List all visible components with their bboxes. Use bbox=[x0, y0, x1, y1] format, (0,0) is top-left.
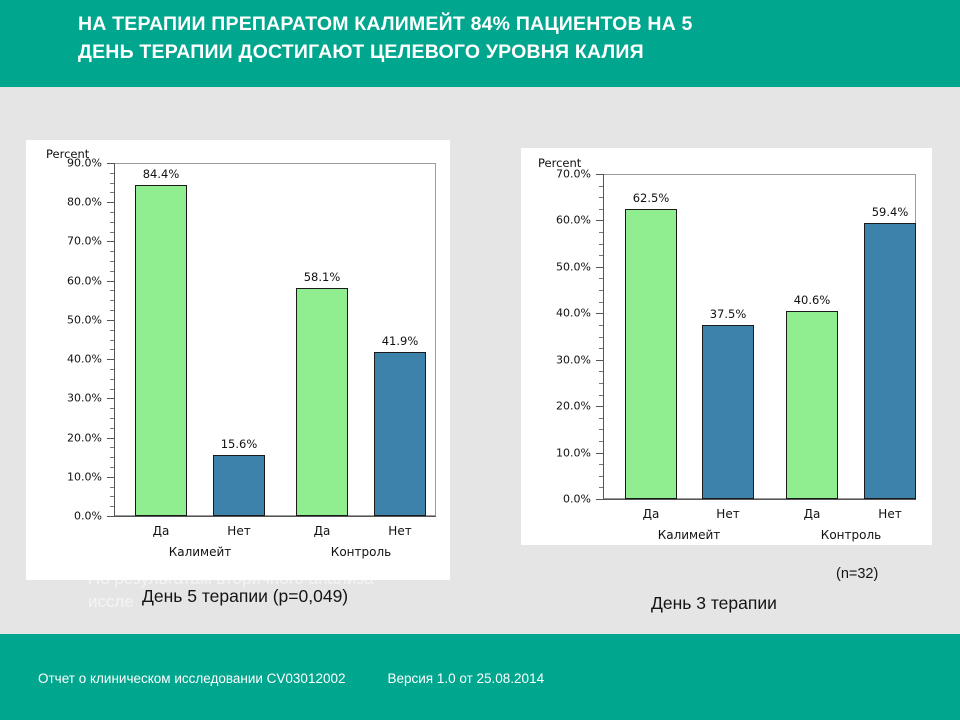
x-axis-group-label: Калимейт bbox=[658, 528, 721, 542]
y-axis-minor-tick bbox=[599, 487, 603, 488]
y-axis-minor-tick bbox=[110, 487, 114, 488]
y-axis-tick-label: 50.0% bbox=[39, 313, 102, 326]
y-axis-tick-label: 30.0% bbox=[39, 392, 102, 405]
x-axis-category-label: Да bbox=[314, 524, 331, 538]
y-axis-minor-tick bbox=[110, 330, 114, 331]
y-axis-minor-tick bbox=[110, 349, 114, 350]
y-axis-major-tick bbox=[107, 359, 114, 360]
bar-1[interactable] bbox=[135, 185, 187, 516]
y-axis-minor-tick bbox=[110, 300, 114, 301]
x-axis-category-label: Нет bbox=[716, 507, 739, 521]
y-axis-minor-tick bbox=[110, 251, 114, 252]
x-axis-category-label: Нет bbox=[227, 524, 250, 538]
x-axis-group-label: Контроль bbox=[331, 545, 391, 559]
y-axis-minor-tick bbox=[110, 183, 114, 184]
x-axis-category-label: Нет bbox=[388, 524, 411, 538]
bar-2[interactable] bbox=[213, 455, 265, 516]
y-axis-minor-tick bbox=[599, 325, 603, 326]
y-axis-major-tick bbox=[596, 499, 603, 500]
y-axis-minor-tick bbox=[110, 457, 114, 458]
y-axis-minor-tick bbox=[599, 348, 603, 349]
bar-value-label: 59.4% bbox=[872, 205, 909, 219]
y-axis-tick-label: 60.0% bbox=[39, 274, 102, 287]
y-axis-tick-label: 30.0% bbox=[528, 353, 591, 366]
y-axis-minor-tick bbox=[599, 255, 603, 256]
x-axis-line bbox=[603, 499, 916, 500]
y-axis-minor-tick bbox=[110, 467, 114, 468]
bar-value-label: 37.5% bbox=[710, 307, 747, 321]
bar-value-label: 58.1% bbox=[304, 270, 341, 284]
y-axis-minor-tick bbox=[599, 383, 603, 384]
y-axis-minor-tick bbox=[110, 418, 114, 419]
y-axis-major-tick bbox=[107, 241, 114, 242]
y-axis-minor-tick bbox=[599, 197, 603, 198]
y-axis-minor-tick bbox=[599, 290, 603, 291]
y-axis-major-tick bbox=[107, 438, 114, 439]
y-axis-major-tick bbox=[107, 398, 114, 399]
y-axis-minor-tick bbox=[599, 186, 603, 187]
y-axis-major-tick bbox=[596, 406, 603, 407]
y-axis-minor-tick bbox=[110, 379, 114, 380]
y-axis-minor-tick bbox=[599, 476, 603, 477]
x-axis-group-label: Контроль bbox=[821, 528, 881, 542]
bar-value-label: 84.4% bbox=[143, 167, 180, 181]
bar-value-label: 40.6% bbox=[794, 293, 831, 307]
y-axis-minor-tick bbox=[599, 232, 603, 233]
y-axis-major-tick bbox=[107, 516, 114, 517]
y-axis-minor-tick bbox=[110, 173, 114, 174]
y-axis-minor-tick bbox=[599, 464, 603, 465]
y-axis-minor-tick bbox=[599, 302, 603, 303]
y-axis-line bbox=[603, 174, 604, 500]
y-axis-tick-label: 0.0% bbox=[39, 510, 102, 523]
y-axis-minor-tick bbox=[599, 278, 603, 279]
y-axis-minor-tick bbox=[599, 244, 603, 245]
y-axis-minor-tick bbox=[110, 447, 114, 448]
y-axis-minor-tick bbox=[599, 371, 603, 372]
y-axis-tick-label: 20.0% bbox=[528, 400, 591, 413]
y-axis-major-tick bbox=[107, 320, 114, 321]
y-axis-minor-tick bbox=[110, 389, 114, 390]
y-axis-tick-label: 80.0% bbox=[39, 196, 102, 209]
bar-3[interactable] bbox=[296, 288, 348, 516]
y-axis-minor-tick bbox=[110, 212, 114, 213]
x-axis-category-label: Да bbox=[643, 507, 660, 521]
bar-4[interactable] bbox=[864, 223, 916, 499]
chart-panel-left: Percent0.0%10.0%20.0%30.0%40.0%50.0%60.0… bbox=[26, 140, 450, 580]
y-axis-tick-label: 20.0% bbox=[39, 431, 102, 444]
x-axis-line bbox=[114, 516, 436, 517]
slide-header: НА ТЕРАПИИ ПРЕПАРАТОМ КАЛИМЕЙТ 84% ПАЦИЕ… bbox=[0, 0, 960, 87]
y-axis-minor-tick bbox=[110, 192, 114, 193]
y-axis-minor-tick bbox=[110, 428, 114, 429]
slide-footer: Отчет о клиническом исследовании CV03012… bbox=[0, 634, 960, 720]
slide-root: НА ТЕРАПИИ ПРЕПАРАТОМ КАЛИМЕЙТ 84% ПАЦИЕ… bbox=[0, 0, 960, 720]
footer-report: Отчет о клиническом исследовании CV03012… bbox=[38, 671, 345, 686]
y-axis-minor-tick bbox=[110, 496, 114, 497]
y-axis-minor-tick bbox=[599, 429, 603, 430]
page-title: НА ТЕРАПИИ ПРЕПАРАТОМ КАЛИМЕЙТ 84% ПАЦИЕ… bbox=[78, 10, 900, 66]
y-axis-tick-label: 40.0% bbox=[528, 307, 591, 320]
y-axis-minor-tick bbox=[110, 232, 114, 233]
y-axis-minor-tick bbox=[599, 395, 603, 396]
y-axis-major-tick bbox=[596, 267, 603, 268]
bar-value-label: 41.9% bbox=[382, 334, 419, 348]
x-axis-category-label: Да bbox=[153, 524, 170, 538]
y-axis-line bbox=[114, 163, 115, 517]
x-axis-category-label: Да bbox=[804, 507, 821, 521]
y-axis-major-tick bbox=[596, 313, 603, 314]
sample-size-note: (n=32) bbox=[836, 566, 878, 582]
y-axis-tick-label: 70.0% bbox=[39, 235, 102, 248]
bar-value-label: 15.6% bbox=[221, 437, 258, 451]
y-axis-major-tick bbox=[107, 281, 114, 282]
y-axis-major-tick bbox=[107, 163, 114, 164]
y-axis-minor-tick bbox=[599, 418, 603, 419]
x-axis-category-label: Нет bbox=[878, 507, 901, 521]
y-axis-minor-tick bbox=[110, 261, 114, 262]
footer-version: Версия 1.0 от 25.08.2014 bbox=[387, 671, 544, 686]
bar-chart-right: Percent0.0%10.0%20.0%30.0%40.0%50.0%60.0… bbox=[521, 148, 932, 545]
caption-left-chart: День 5 терапии (p=0,049) bbox=[142, 586, 348, 607]
y-axis-minor-tick bbox=[110, 290, 114, 291]
bar-value-label: 62.5% bbox=[633, 191, 670, 205]
bar-3[interactable] bbox=[786, 311, 838, 500]
y-axis-minor-tick bbox=[110, 222, 114, 223]
bar-2[interactable] bbox=[702, 325, 754, 499]
x-axis-group-label: Калимейт bbox=[169, 545, 232, 559]
y-axis-minor-tick bbox=[110, 408, 114, 409]
y-axis-tick-label: 0.0% bbox=[528, 493, 591, 506]
y-axis-minor-tick bbox=[599, 337, 603, 338]
y-axis-tick-label: 60.0% bbox=[528, 214, 591, 227]
y-axis-minor-tick bbox=[110, 340, 114, 341]
y-axis-tick-label: 10.0% bbox=[528, 446, 591, 459]
y-axis-major-tick bbox=[596, 220, 603, 221]
y-axis-tick-label: 70.0% bbox=[528, 168, 591, 181]
y-axis-minor-tick bbox=[599, 441, 603, 442]
y-axis-major-tick bbox=[596, 453, 603, 454]
y-axis-minor-tick bbox=[110, 506, 114, 507]
bar-chart-left: Percent0.0%10.0%20.0%30.0%40.0%50.0%60.0… bbox=[26, 140, 450, 580]
y-axis-minor-tick bbox=[599, 209, 603, 210]
y-axis-major-tick bbox=[596, 360, 603, 361]
caption-right-chart: День 3 терапии bbox=[651, 593, 777, 614]
y-axis-major-tick bbox=[107, 477, 114, 478]
y-axis-minor-tick bbox=[110, 310, 114, 311]
y-axis-tick-label: 10.0% bbox=[39, 470, 102, 483]
y-axis-tick-label: 90.0% bbox=[39, 157, 102, 170]
y-axis-minor-tick bbox=[110, 369, 114, 370]
y-axis-minor-tick bbox=[110, 271, 114, 272]
bar-1[interactable] bbox=[625, 209, 677, 499]
chart-panel-right: Percent0.0%10.0%20.0%30.0%40.0%50.0%60.0… bbox=[521, 148, 932, 545]
y-axis-tick-label: 40.0% bbox=[39, 353, 102, 366]
y-axis-major-tick bbox=[596, 174, 603, 175]
y-axis-major-tick bbox=[107, 202, 114, 203]
y-axis-tick-label: 50.0% bbox=[528, 260, 591, 273]
footer-text: Отчет о клиническом исследовании CV03012… bbox=[38, 671, 544, 686]
bar-4[interactable] bbox=[374, 352, 426, 516]
